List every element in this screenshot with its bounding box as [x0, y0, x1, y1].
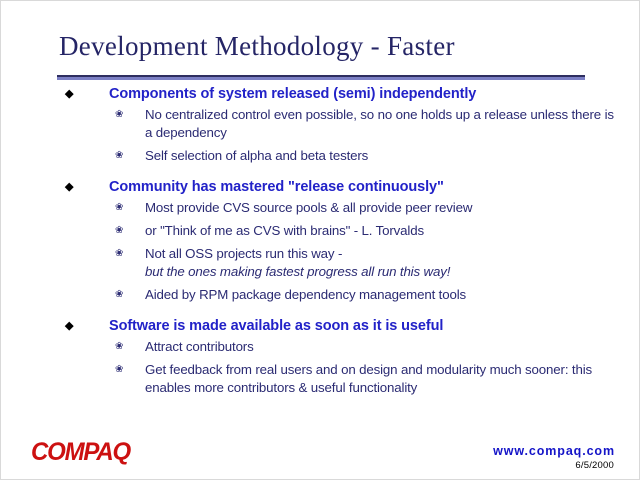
- footer-date: 6/5/2000: [575, 460, 614, 471]
- presentation-slide: Development Methodology - Faster ◆ Compo…: [0, 0, 640, 480]
- floret-bullet-icon: ❀: [115, 222, 123, 240]
- bullet-level2: ❀ Attract contributors: [57, 338, 617, 356]
- diamond-bullet-icon: ◆: [65, 317, 73, 336]
- bullet-level1: ◆ Community has mastered "release contin…: [57, 178, 617, 197]
- bullet-level1: ◆ Software is made available as soon as …: [57, 317, 617, 336]
- bullet-text: Attract contributors: [145, 339, 254, 354]
- title-divider-rule: [57, 75, 585, 80]
- bullet-text: No centralized control even possible, so…: [145, 107, 614, 140]
- bullet-text: Most provide CVS source pools & all prov…: [145, 200, 472, 215]
- floret-bullet-icon: ❀: [115, 199, 123, 217]
- bullet-text: Components of system released (semi) ind…: [109, 86, 476, 102]
- bullet-text-italic: but the ones making fastest progress all…: [145, 264, 450, 279]
- bullet-level2: ❀ Get feedback from real users and on de…: [57, 361, 617, 397]
- floret-bullet-icon: ❀: [115, 361, 123, 379]
- bullet-level2: ❀ Not all OSS projects run this way - bu…: [57, 245, 617, 281]
- slide-title: Development Methodology - Faster: [59, 31, 455, 62]
- bullet-level2: ❀ or "Think of me as CVS with brains" - …: [57, 222, 617, 240]
- bullet-text: Aided by RPM package dependency manageme…: [145, 287, 466, 302]
- bullet-level2: ❀ Aided by RPM package dependency manage…: [57, 286, 617, 304]
- bullet-text: Self selection of alpha and beta testers: [145, 148, 368, 163]
- bullet-text: or "Think of me as CVS with brains" - L.…: [145, 223, 424, 238]
- floret-bullet-icon: ❀: [115, 106, 123, 124]
- floret-bullet-icon: ❀: [115, 286, 123, 304]
- bullet-text: Software is made available as soon as it…: [109, 318, 443, 334]
- bullet-level2: ❀ Most provide CVS source pools & all pr…: [57, 199, 617, 217]
- floret-bullet-icon: ❀: [115, 147, 123, 165]
- bullet-text: Not all OSS projects run this way -: [145, 246, 342, 261]
- bullet-text: Get feedback from real users and on desi…: [145, 362, 592, 395]
- bullet-text: Community has mastered "release continuo…: [109, 179, 444, 195]
- bullet-level2: ❀ Self selection of alpha and beta teste…: [57, 147, 617, 165]
- slide-body: ◆ Components of system released (semi) i…: [57, 85, 617, 397]
- diamond-bullet-icon: ◆: [65, 85, 73, 104]
- bullet-level1: ◆ Components of system released (semi) i…: [57, 85, 617, 104]
- floret-bullet-icon: ❀: [115, 338, 123, 356]
- bullet-level2: ❀ No centralized control even possible, …: [57, 106, 617, 142]
- footer-url: www.compaq.com: [493, 444, 615, 458]
- compaq-logo: COMPAQ: [31, 438, 130, 467]
- diamond-bullet-icon: ◆: [65, 178, 73, 197]
- floret-bullet-icon: ❀: [115, 245, 123, 263]
